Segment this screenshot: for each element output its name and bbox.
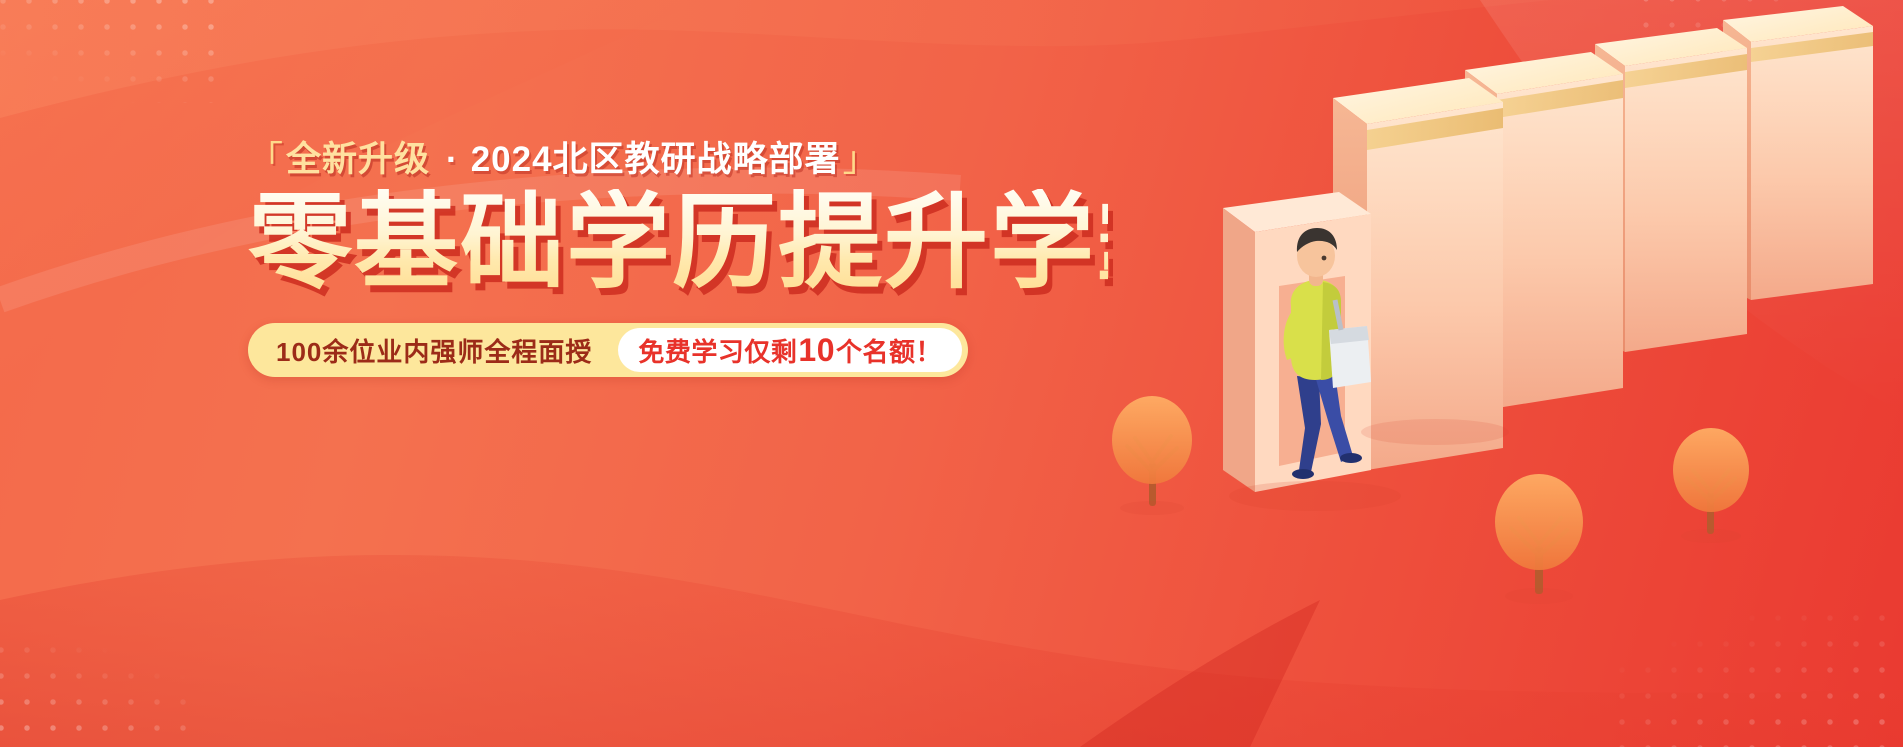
banner-text-block: 「 全新升级 · 2024北区教研战略部署 」 零基础学历提升学霸班 100余位…	[248, 142, 1108, 377]
subtitle-separator-dot: ·	[446, 142, 459, 177]
bracket-open-icon: 「	[248, 142, 284, 177]
subtitle-rest: 2024北区教研战略部署	[471, 142, 841, 177]
offer-badge-count: 10	[797, 328, 836, 372]
page-title: 零基础学历提升学霸班	[248, 189, 1108, 297]
offer-pill-badge: 免费学习仅剩 10 个名额！	[618, 328, 962, 372]
promo-banner: 「 全新升级 · 2024北区教研战略部署 」 零基础学历提升学霸班 100余位…	[0, 0, 1903, 747]
subtitle-highlight: 全新升级	[286, 142, 430, 177]
offer-badge-suffix: 个名额！	[836, 330, 942, 374]
offer-pill-left-text: 100余位业内强师全程面授	[276, 332, 618, 369]
banner-subtitle: 「 全新升级 · 2024北区教研战略部署 」	[248, 142, 1108, 177]
bracket-close-icon: 」	[843, 142, 879, 177]
offer-badge-prefix: 免费学习仅剩	[638, 330, 797, 374]
offer-pill: 100余位业内强师全程面授 免费学习仅剩 10 个名额！	[248, 323, 968, 377]
